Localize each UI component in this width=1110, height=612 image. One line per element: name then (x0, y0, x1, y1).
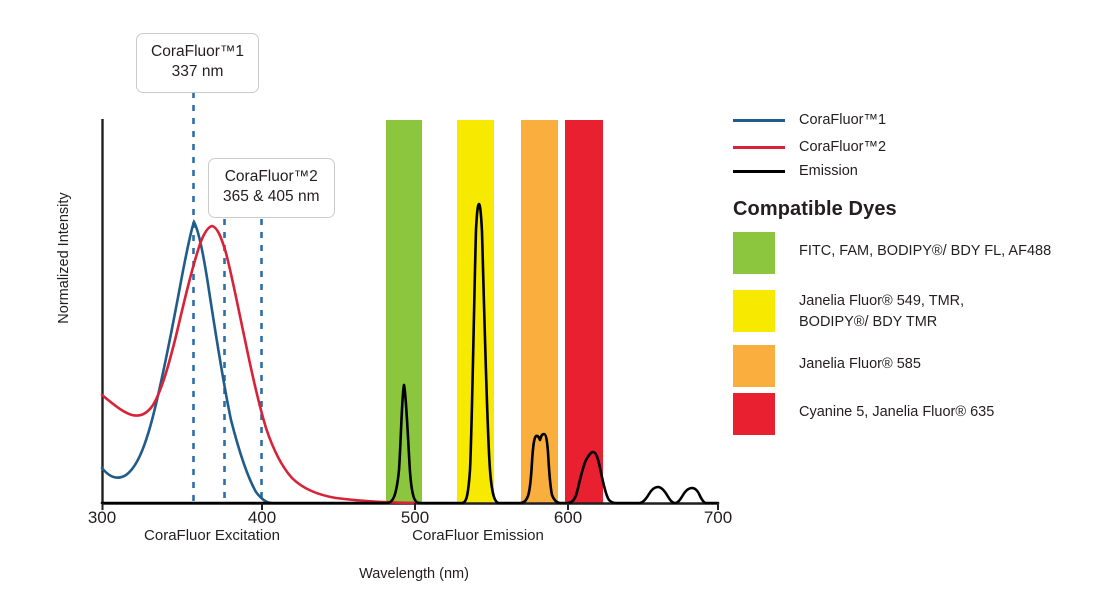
band-green (386, 120, 422, 503)
dye-swatch-yellow (733, 290, 775, 332)
callout-corafluor-1: CoraFluor™1 337 nm (136, 33, 259, 93)
dye-item-red: Cyanine 5, Janelia Fluor® 635 (733, 393, 994, 435)
dye-item-green: FITC, FAM, BODIPY®/ BDY FL, AF488 (733, 232, 1051, 274)
legend-item-corafluor-1: CoraFluor™1 (733, 112, 886, 128)
legend-item-corafluor-2: CoraFluor™2 (733, 139, 886, 155)
dye-item-yellow: Janelia Fluor® 549, TMR, BODIPY®/ BDY TM… (733, 290, 964, 332)
emission-filter-bands (386, 120, 603, 503)
plot-area: Normalized Intensity 300 400 500 600 700… (0, 0, 740, 612)
callout-1-line2: 337 nm (151, 62, 244, 82)
dye-item-orange: Janelia Fluor® 585 (733, 345, 921, 387)
callout-2-line1: CoraFluor™2 (225, 168, 318, 185)
sublabel-emission: CoraFluor Emission (348, 527, 608, 544)
legend-label-emission: Emission (799, 163, 858, 179)
band-orange (521, 120, 558, 503)
dye-label-orange: Janelia Fluor® 585 (799, 345, 921, 375)
legend-item-emission: Emission (733, 163, 858, 179)
compatible-dyes-title: Compatible Dyes (733, 198, 897, 221)
band-red (565, 120, 603, 503)
x-tick-500: 500 (375, 508, 455, 528)
x-tick-600: 600 (528, 508, 608, 528)
legend-line-emission (733, 170, 785, 173)
x-axis-title: Wavelength (nm) (264, 566, 564, 582)
dye-label-yellow-line1: Janelia Fluor® 549, TMR, (799, 293, 964, 309)
dye-swatch-green (733, 232, 775, 274)
legend-line-corafluor-2 (733, 146, 785, 149)
x-tick-300: 300 (62, 508, 142, 528)
dye-swatch-orange (733, 345, 775, 387)
legend-label-corafluor-1: CoraFluor™1 (799, 112, 886, 128)
dye-label-red: Cyanine 5, Janelia Fluor® 635 (799, 393, 994, 423)
callout-2-line2: 365 & 405 nm (223, 187, 320, 207)
dye-swatch-red (733, 393, 775, 435)
curve-corafluor-1 (102, 222, 272, 503)
sublabel-excitation: CoraFluor Excitation (82, 527, 342, 544)
x-tick-400: 400 (222, 508, 302, 528)
legend-panel: CoraFluor™1 CoraFluor™2 Emission Compati… (730, 0, 1110, 612)
callout-1-line1: CoraFluor™1 (151, 43, 244, 60)
dye-label-yellow-line2: BODIPY®/ BDY TMR (799, 314, 937, 330)
callout-corafluor-2: CoraFluor™2 365 & 405 nm (208, 158, 335, 218)
dye-label-yellow: Janelia Fluor® 549, TMR, BODIPY®/ BDY TM… (799, 290, 964, 332)
y-axis-title: Normalized Intensity (56, 158, 72, 358)
legend-line-corafluor-1 (733, 119, 785, 122)
chart-page: Normalized Intensity 300 400 500 600 700… (0, 0, 1110, 612)
dye-label-green: FITC, FAM, BODIPY®/ BDY FL, AF488 (799, 232, 1051, 262)
excitation-marker-lines (194, 92, 262, 503)
legend-label-corafluor-2: CoraFluor™2 (799, 139, 886, 155)
